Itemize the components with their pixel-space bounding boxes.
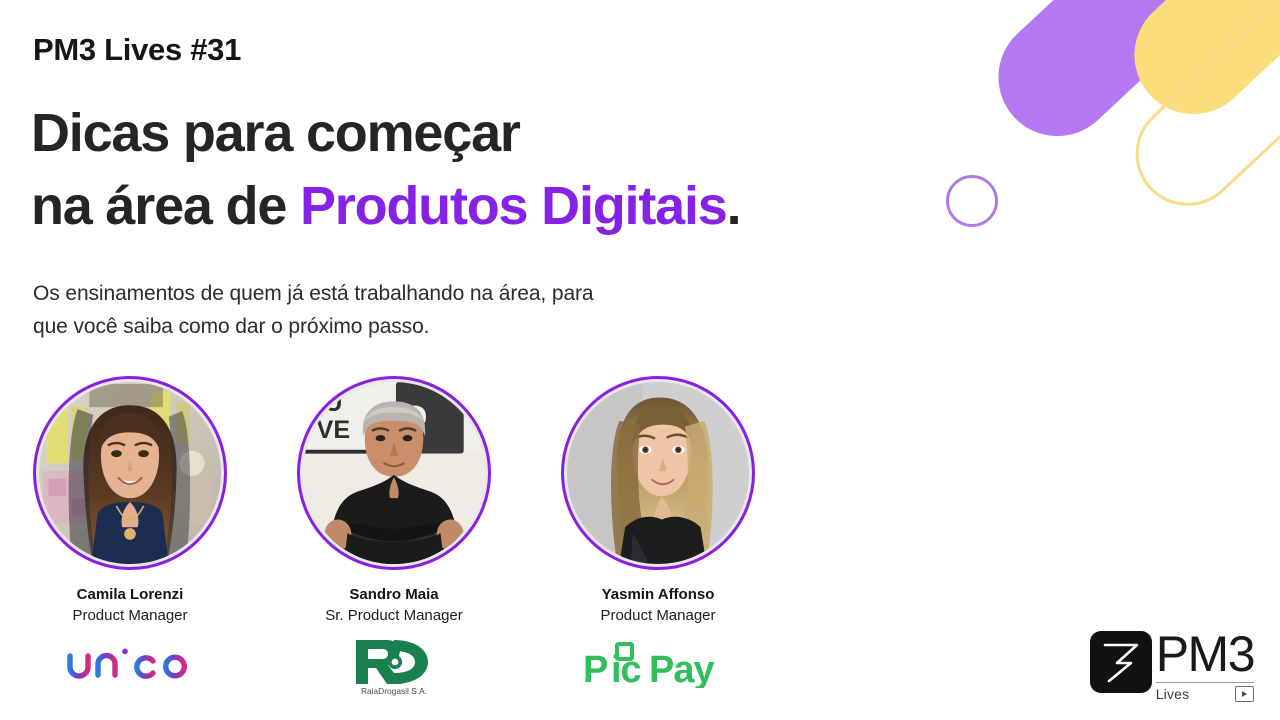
pm3-mark-icon — [1090, 631, 1152, 693]
avatar-photo-camila — [39, 382, 221, 564]
yellow-capsule-shape — [1110, 0, 1280, 138]
avatar — [561, 376, 755, 570]
svg-text:VE: VE — [317, 416, 351, 444]
headline-period: . — [727, 176, 741, 236]
svg-text:P: P — [583, 649, 608, 688]
headline-line-1: Dicas para começar — [31, 97, 740, 170]
company-logo-unico — [64, 642, 196, 688]
speaker-role: Sr. Product Manager — [325, 607, 463, 624]
avatar-photo-yasmin — [567, 382, 749, 564]
subtitle-line-1: Os ensinamentos de quem já está trabalha… — [33, 278, 594, 311]
svg-text:Pay: Pay — [649, 649, 714, 688]
presentation-slide: PM3 Lives #31 Dicas para começar na área… — [0, 0, 1280, 720]
speaker-name: Sandro Maia — [349, 586, 438, 603]
brand-wordmark: PM3 — [1156, 631, 1254, 677]
purple-circle-outline-shape — [946, 175, 998, 227]
speaker-name: Yasmin Affonso — [602, 586, 715, 603]
brand-text-group: PM3 Lives — [1156, 631, 1254, 702]
speaker-role: Product Manager — [72, 607, 187, 624]
speaker-card: Camila Lorenzi Product Manager — [33, 376, 227, 688]
company-logo-rd: RaiaDrogasil S.A. — [338, 642, 450, 688]
decorative-shapes — [920, 0, 1280, 300]
svg-text:ic: ic — [611, 649, 642, 688]
brand-logo: PM3 Lives — [1090, 631, 1254, 702]
speaker-name: Camila Lorenzi — [77, 586, 184, 603]
brand-sublabel: Lives — [1156, 686, 1190, 702]
episode-label: PM3 Lives #31 — [33, 32, 241, 68]
speaker-role: Product Manager — [600, 607, 715, 624]
speaker-card: Yasmin Affonso Product Manager P ic Pay — [561, 376, 755, 688]
subtitle-line-2: que você saiba como dar o próximo passo. — [33, 311, 594, 344]
speaker-card: D U VE — [297, 376, 491, 688]
subtitle: Os ensinamentos de quem já está trabalha… — [33, 278, 594, 343]
rd-logo-subtext: RaiaDrogasil S.A. — [361, 686, 427, 696]
speaker-list: Camila Lorenzi Product Manager — [33, 376, 755, 688]
avatar — [33, 376, 227, 570]
purple-capsule-shape — [974, 0, 1274, 160]
yellow-capsule-outline-shape — [1114, 0, 1280, 227]
avatar: D U VE — [297, 376, 491, 570]
headline-prefix: na área de — [31, 176, 300, 236]
page-title: Dicas para começar na área de Produtos D… — [31, 97, 740, 243]
svg-text:U: U — [324, 389, 342, 417]
company-logo-picpay: P ic Pay — [581, 642, 735, 688]
play-icon — [1235, 686, 1254, 702]
headline-accent: Produtos Digitais — [300, 176, 727, 236]
avatar-photo-sandro: D U VE — [303, 382, 485, 564]
brand-sublabel-row: Lives — [1156, 682, 1254, 702]
headline-line-2: na área de Produtos Digitais. — [31, 170, 740, 243]
